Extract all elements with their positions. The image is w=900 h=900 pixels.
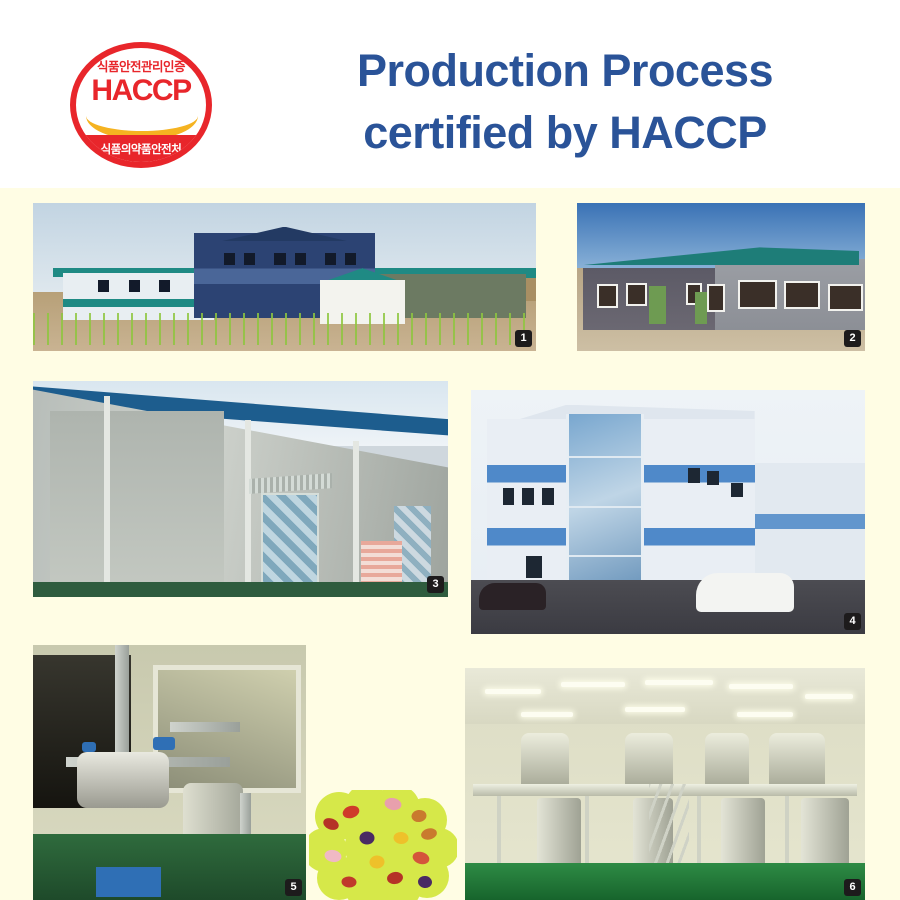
haccp-korean-top-text: 식품안전관리인증 <box>97 61 185 74</box>
haccp-wordmark: HACCP <box>91 76 190 106</box>
page-title-line-1: Production Process <box>255 40 875 102</box>
page-title-line-2: certified by HACCP <box>255 102 875 164</box>
photo-5-scene <box>33 645 306 900</box>
photo-1-scene <box>33 203 536 351</box>
header: 식품안전관리인증 HACCP 식품의약품안전처 Production Proce… <box>0 0 900 188</box>
photo-6-scene <box>465 668 865 900</box>
photo-badge: 6 <box>844 879 861 896</box>
photo-5-processing-equipment: 5 <box>33 645 306 900</box>
page-root: 식품안전관리인증 HACCP 식품의약품안전처 Production Proce… <box>0 0 900 900</box>
photo-badge: 3 <box>427 576 444 593</box>
photo-3-scene <box>33 381 448 597</box>
haccp-logo-banner: 식품의약품안전처 <box>76 135 206 162</box>
haccp-logo: 식품안전관리인증 HACCP 식품의약품안전처 <box>62 42 220 170</box>
photo-4-scene <box>471 390 865 634</box>
photo-badge: 4 <box>844 613 861 630</box>
photo-4-office-building: 4 <box>471 390 865 634</box>
photo-badge: 2 <box>844 330 861 347</box>
page-title: Production Process certified by HACCP <box>255 40 875 164</box>
photo-badge: 5 <box>285 879 302 896</box>
photo-3-warehouse-exterior: 3 <box>33 381 448 597</box>
photo-6-production-hall: 6 <box>465 668 865 900</box>
fruit-cloud-icon <box>309 790 457 900</box>
photo-1-factory-exterior: 1 <box>33 203 536 351</box>
photo-2-utility-building: 2 <box>577 203 865 351</box>
photo-2-scene <box>577 203 865 351</box>
photo-badge: 1 <box>515 330 532 347</box>
haccp-korean-bottom-text: 식품의약품안전처 <box>101 141 182 157</box>
haccp-logo-ring: 식품안전관리인증 HACCP 식품의약품안전처 <box>70 42 212 168</box>
